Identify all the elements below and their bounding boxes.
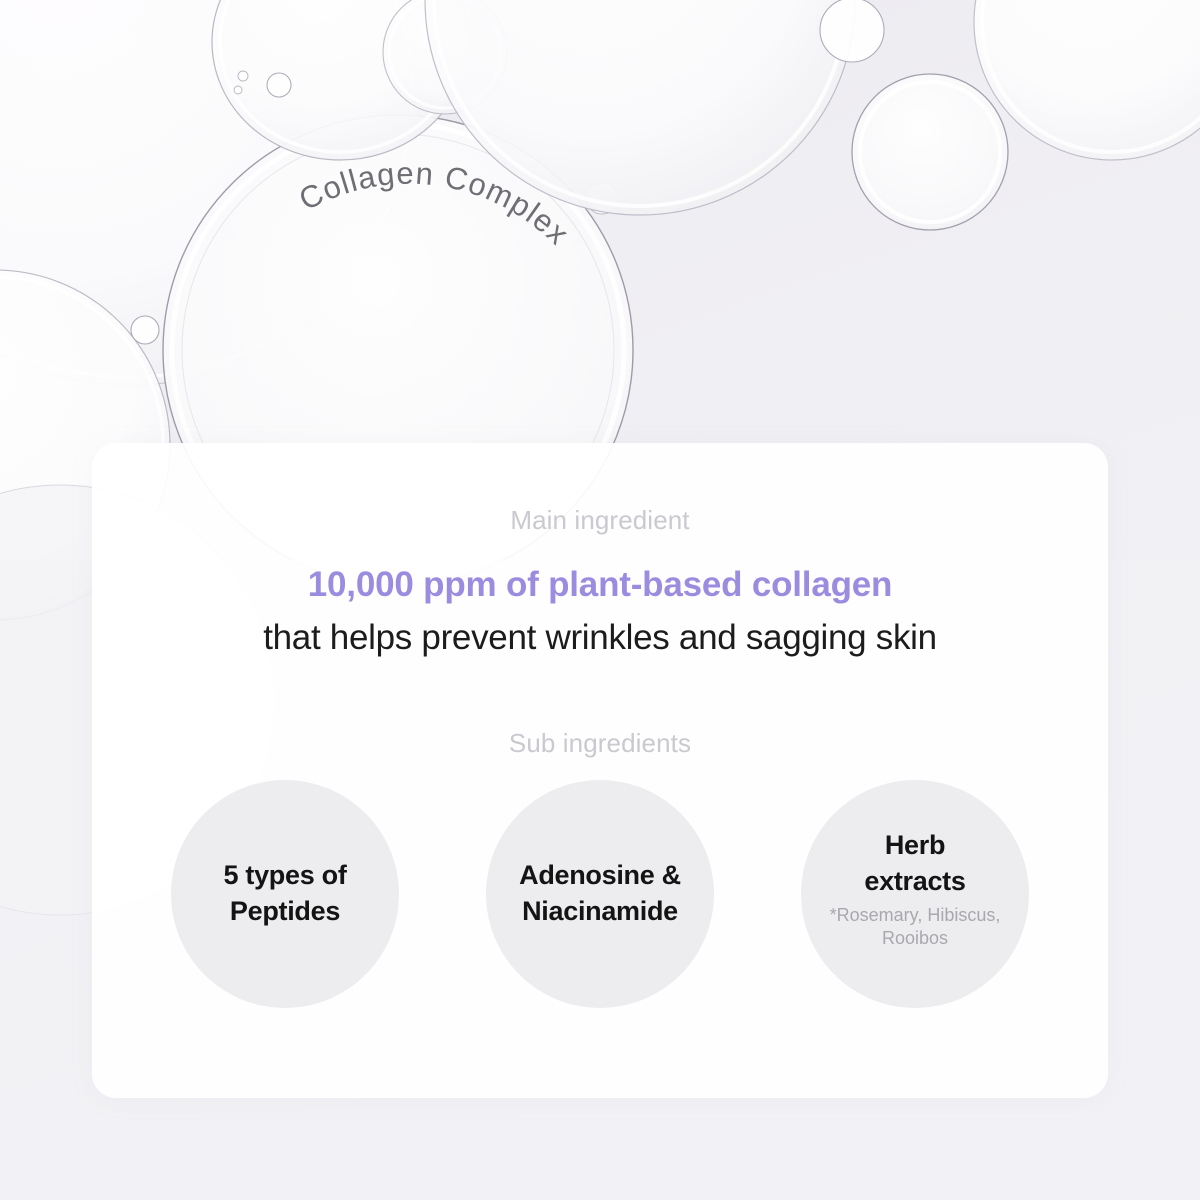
sub-ingredient-title: 5 types of Peptides bbox=[223, 858, 346, 930]
ingredient-card: Main ingredient 10,000 ppm of plant-base… bbox=[92, 443, 1108, 1098]
sub-ingredients-label: Sub ingredients bbox=[92, 728, 1108, 759]
bubble-cluster-small bbox=[820, 0, 884, 62]
bubble-small-a bbox=[267, 73, 291, 97]
sub-ingredient-title: Adenosine & Niacinamide bbox=[519, 858, 681, 930]
main-ingredient-label: Main ingredient bbox=[92, 505, 1108, 536]
bubble-small-b bbox=[238, 71, 248, 81]
sub-ingredient-circle: 5 types of Peptides bbox=[171, 780, 399, 1008]
bubble-right-round bbox=[852, 74, 1008, 230]
main-ingredient-highlight: 10,000 ppm of plant-based collagen bbox=[92, 565, 1108, 605]
bubble-small-d bbox=[131, 316, 159, 344]
sub-ingredient-circle-group: 5 types of Peptides Adenosine & Niacinam… bbox=[92, 780, 1108, 1020]
main-ingredient-description: that helps prevent wrinkles and sagging … bbox=[92, 618, 1108, 658]
sub-ingredient-circle: Herb extracts *Rosemary, Hibiscus, Rooib… bbox=[801, 780, 1029, 1008]
bubble-small-c bbox=[234, 86, 242, 94]
sub-ingredient-note: *Rosemary, Hibiscus, Rooibos bbox=[790, 904, 1040, 951]
sub-ingredient-title: Herb extracts bbox=[864, 828, 965, 900]
sub-ingredient-circle: Adenosine & Niacinamide bbox=[486, 780, 714, 1008]
